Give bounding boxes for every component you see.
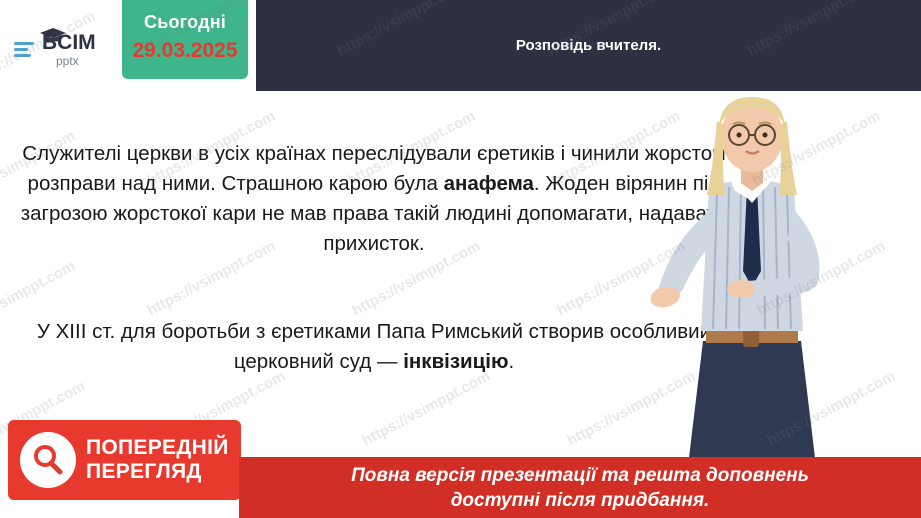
preview-line-1: ПОПЕРЕДНІЙ bbox=[86, 436, 229, 460]
paragraph-1-bold: анафема bbox=[444, 172, 534, 195]
paragraph-2-text-a: У XIII ст. для боротьби з єретиками Папа… bbox=[37, 320, 711, 373]
paragraph-1: Служителі церкви в усіх країнах переслід… bbox=[20, 139, 728, 259]
preview-line-2: ПЕРЕГЛЯД bbox=[86, 460, 229, 484]
logo-lines-icon bbox=[14, 40, 36, 60]
teacher-photo bbox=[651, 91, 861, 518]
top-bar: BCIM pptx Сьогодні 29.03.2025 Розповідь … bbox=[0, 0, 921, 91]
paragraph-2-text-b: . bbox=[508, 350, 514, 373]
date-value: 29.03.2025 bbox=[122, 39, 248, 63]
magnifier-circle bbox=[20, 432, 76, 488]
bottom-banner-text: Повна версія презентації та решта доповн… bbox=[351, 463, 809, 513]
paragraph-2-bold: інквізицію bbox=[403, 350, 508, 373]
preview-badge: ПОПЕРЕДНІЙ ПЕРЕГЛЯД bbox=[8, 420, 241, 500]
search-icon bbox=[31, 443, 65, 477]
bottom-banner: Повна версія презентації та решта доповн… bbox=[239, 457, 921, 518]
slide: BCIM pptx Сьогодні 29.03.2025 Розповідь … bbox=[0, 0, 921, 518]
bottom-banner-line-1: Повна версія презентації та решта доповн… bbox=[351, 465, 809, 486]
slide-title: Розповідь вчителя. bbox=[256, 0, 921, 91]
date-badge: Сьогодні 29.03.2025 bbox=[122, 0, 248, 79]
logo-sub-text: pptx bbox=[56, 55, 96, 67]
bottom-banner-line-2: доступні після придбання. bbox=[451, 490, 710, 511]
date-label: Сьогодні bbox=[122, 12, 248, 33]
preview-text: ПОПЕРЕДНІЙ ПЕРЕГЛЯД bbox=[86, 436, 229, 484]
paragraph-2: У XIII ст. для боротьби з єретиками Папа… bbox=[20, 317, 728, 377]
graduation-cap-icon bbox=[40, 28, 66, 42]
